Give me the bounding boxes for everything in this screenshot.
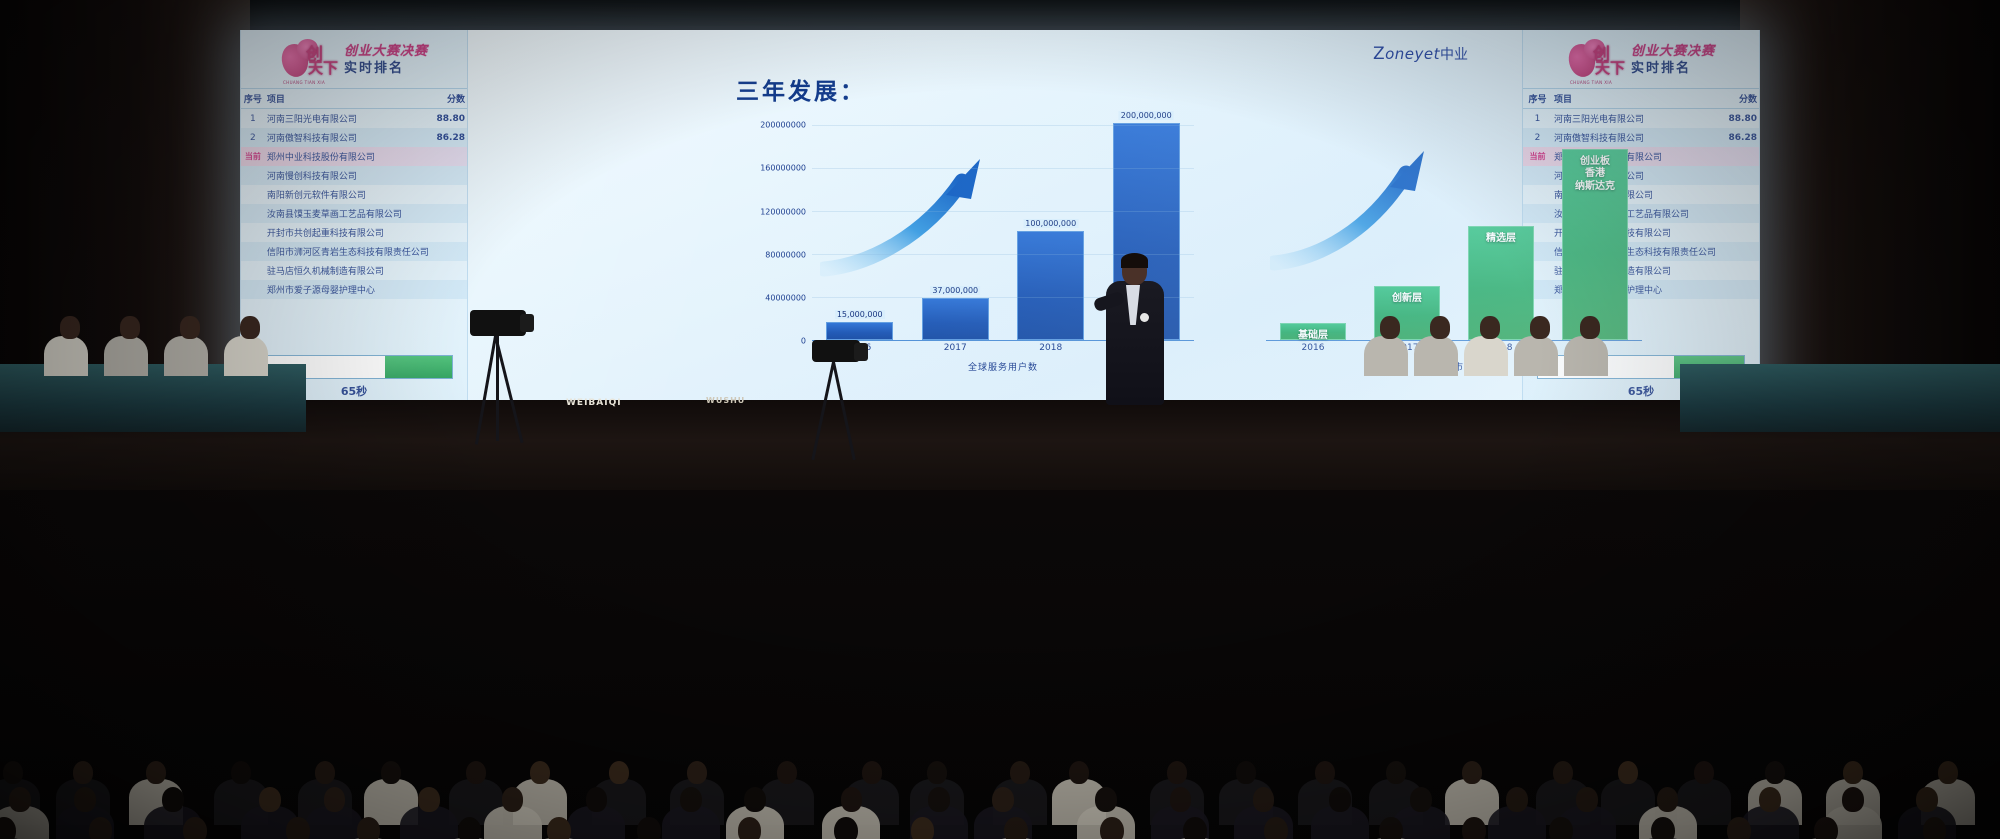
row-no [241,223,265,242]
col-score-right: 分数 [1718,89,1759,109]
row-score [1718,204,1759,223]
judge-head [60,316,80,339]
logo-subtext: CHUANG TIAN XIA [283,80,325,85]
row-project-name: 郑州中业科技股份有限公司 [265,147,431,166]
table-row: 汝南县馍玉麦草画工艺品有限公司 [241,204,467,223]
bar: 15,000,000 [826,322,893,340]
timer-progress-fill [385,356,452,378]
x-tick-label: 2016 [1281,343,1345,357]
row-score: 88.80 [431,109,467,129]
judge-person [164,336,208,376]
bar-column: 创业板香港纳斯达克 [1563,109,1627,340]
logo-char-2-right: 天下 [1595,57,1625,78]
row-no: 1 [241,109,265,129]
row-project-name: 信阳市浉河区青岩生态科技有限责任公司 [265,242,431,261]
gridline [812,125,1194,126]
bar-column: 100,000,000 [1018,109,1083,340]
row-no [241,166,265,185]
row-project-name: 南阳新创元软件有限公司 [265,185,431,204]
judge-head [240,316,260,339]
col-no-right: 序号 [1523,89,1552,109]
ranking-title-line1-right: 创业大赛决赛 [1631,45,1715,60]
chuangtianxia-logo-icon-right: 创 天下 CHUANG TIAN XIA [1567,38,1625,84]
row-score [1718,242,1759,261]
row-no [241,185,265,204]
judge-head [1530,316,1550,339]
col-project: 项目 [265,89,431,109]
bar-column: 创新层 [1375,109,1439,340]
table-header-row-right: 序号 项目 分数 [1523,89,1759,109]
slide-title: 三年发展： [736,72,866,106]
table-row: 2河南傲智科技有限公司86.28 [241,128,467,147]
ranking-title-line1: 创业大赛决赛 [344,45,428,60]
judge-person [1414,336,1458,376]
judge-person [1464,336,1508,376]
judge-head [1480,316,1500,339]
presenter-person [1100,255,1170,405]
jacket-text-2: WUSHU [706,396,745,405]
ranking-title-line2-right: 实时排名 [1631,62,1691,77]
bar-value-label: 37,000,000 [930,286,980,295]
bar-value-label: 15,000,000 [835,310,885,319]
judge-head [1430,316,1450,339]
row-score [431,223,467,242]
judge-person [104,336,148,376]
logo-subtext-right: CHUANG TIAN XIA [1570,80,1612,85]
bar-column: 37,000,000 [923,109,988,340]
row-project-name: 郑州市爱子源母婴护理中心 [265,280,431,299]
col-no: 序号 [241,89,265,109]
bar: 37,000,000 [922,298,989,340]
row-project-name: 开封市共创起重科技有限公司 [265,223,431,242]
row-project-name: 河南慢创科技有限公司 [265,166,431,185]
row-no: 2 [241,128,265,147]
judge-head [180,316,200,339]
row-score [1718,166,1759,185]
y-tick-label: 80000000 [765,250,806,259]
y-tick-label: 120000000 [760,207,806,216]
bar-column: 基础层 [1281,109,1345,340]
row-score [1718,280,1759,299]
ranking-logo-header-right: 创 天下 CHUANG TIAN XIA 创业大赛决赛 实时排名 [1523,30,1759,88]
ranking-title-line2: 实时排名 [344,62,404,77]
bar: 100,000,000 [1017,231,1084,340]
chuangtianxia-logo-icon: 创 天下 CHUANG TIAN XIA [280,38,338,84]
bar-column: 精选层 [1469,109,1533,340]
judge-person [44,336,88,376]
current-tag: 当前 [245,152,261,161]
ceiling-strip [0,0,2000,26]
bar: 创业板香港纳斯达克 [1562,149,1628,340]
bar: 基础层 [1280,323,1346,340]
ranking-table-left: 序号 项目 分数 1河南三阳光电有限公司88.802河南傲智科技有限公司86.2… [241,88,467,299]
brand-initial: Z [1373,44,1385,64]
row-project-name: 驻马店恒久机械制造有限公司 [265,261,431,280]
judge-head [120,316,140,339]
row-score [431,147,467,166]
bar-inner-label: 精选层 [1469,233,1533,246]
ranking-rows-left: 1河南三阳光电有限公司88.802河南傲智科技有限公司86.28当前郑州中业科技… [241,109,467,300]
brand-cn: 中业 [1440,47,1468,63]
row-no [241,242,265,261]
judge-person [1564,336,1608,376]
y-tick-label: 200000000 [760,121,806,130]
x-tick-label: 2018 [1018,343,1083,357]
bar-value-label: 100,000,000 [1023,219,1078,228]
table-row: 驻马店恒久机械制造有限公司 [241,261,467,280]
row-score [1718,223,1759,242]
zoneyet-brand-logo: Zoneyet中业 [1373,44,1468,64]
row-project-name: 河南傲智科技有限公司 [265,128,431,147]
y-tick-label: 0 [801,337,806,346]
conference-hall-scene: 创 天下 CHUANG TIAN XIA 创业大赛决赛 实时排名 序号 项目 分… [0,0,2000,839]
table-row: 河南慢创科技有限公司 [241,166,467,185]
row-score [431,166,467,185]
table-header-row: 序号 项目 分数 [241,89,467,109]
chart-y-axis-blue: 2000000001600000001200000008000000040000… [738,109,810,341]
chart-plot-green: 基础层创新层精选层创业板香港纳斯达克 [1266,109,1642,341]
judge-head [1380,316,1400,339]
ranking-logo-header: 创 天下 CHUANG TIAN XIA 创业大赛决赛 实时排名 [241,30,467,88]
judge-head [1580,316,1600,339]
bar-value-label: 200,000,000 [1119,111,1174,120]
table-row: 1河南三阳光电有限公司88.80 [241,109,467,129]
bar-inner-label: 基础层 [1281,330,1345,343]
judge-person [1364,336,1408,376]
logo-char-2: 天下 [308,57,338,78]
table-row: 信阳市浉河区青岩生态科技有限责任公司 [241,242,467,261]
judge-person [224,336,268,376]
chart-bars-green: 基础层创新层精选层创业板香港纳斯达克 [1266,109,1642,340]
row-score [431,280,467,299]
table-row: 南阳新创元软件有限公司 [241,185,467,204]
row-score [1718,261,1759,280]
row-score [431,204,467,223]
brand-rest: oneyet [1385,45,1440,63]
row-score: 86.28 [1718,128,1759,147]
col-project-right: 项目 [1552,89,1718,109]
y-tick-label: 160000000 [760,164,806,173]
bar-column: 15,000,000 [827,109,892,340]
row-project-name: 河南三阳光电有限公司 [265,109,431,129]
row-no: 当前 [241,147,265,166]
row-score [431,261,467,280]
x-tick-label: 2017 [923,343,988,357]
gridline [812,168,1194,169]
row-score [1718,147,1759,166]
bar-inner-label: 创业板香港纳斯达克 [1563,156,1627,194]
table-row: 郑州市爱子源母婴护理中心 [241,280,467,299]
col-score: 分数 [431,89,467,109]
table-row: 当前郑州中业科技股份有限公司 [241,147,467,166]
ranking-panel-left: 创 天下 CHUANG TIAN XIA 创业大赛决赛 实时排名 序号 项目 分… [240,30,468,405]
judges-table-right [1680,364,2000,432]
row-score [1718,185,1759,204]
row-no [241,204,265,223]
row-score [431,242,467,261]
row-score [431,185,467,204]
microphone-icon [1140,313,1149,322]
table-row: 开封市共创起重科技有限公司 [241,223,467,242]
y-tick-label: 40000000 [765,293,806,302]
row-no [241,261,265,280]
judge-person [1514,336,1558,376]
row-score: 88.80 [1718,109,1759,129]
row-no [241,280,265,299]
gridline [812,211,1194,212]
bar-inner-label: 创新层 [1375,293,1439,306]
jacket-text-1: WEIBAIQI [566,398,622,408]
row-project-name: 汝南县馍玉麦草画工艺品有限公司 [265,204,431,223]
row-score: 86.28 [431,128,467,147]
bar: 精选层 [1468,226,1534,340]
